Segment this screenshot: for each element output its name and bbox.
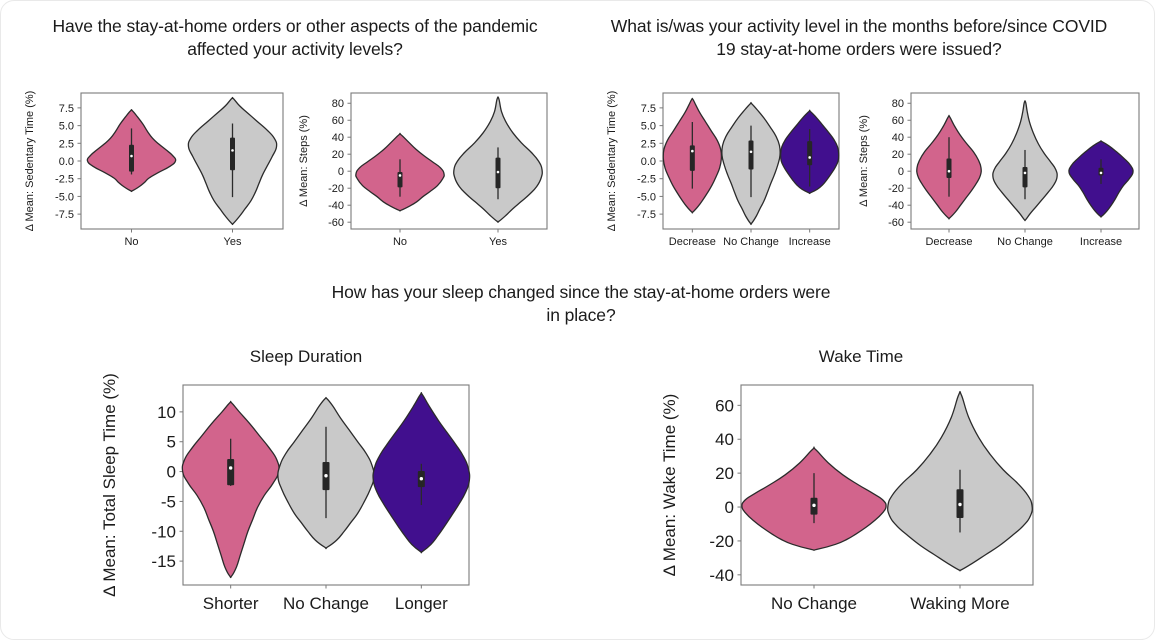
y-tick-label: 5 [167,433,176,452]
violin-plot-level-sedentary[interactable]: 7.55.02.50.0-2.5-5.0-7.5Δ Mean: Sedentar… [601,83,845,251]
violin-svg-level-steps: 806040200-20-40-60Δ Mean: Steps (%)Decre… [853,83,1145,251]
median-marker [229,466,232,469]
violin-shape-shorter [182,401,279,577]
iqr-box [230,138,235,171]
y-axis-title: Δ Mean: Sedentary Time (%) [606,91,618,232]
y-tick-label: 60 [892,115,904,127]
y-tick-label: 0 [167,463,176,482]
y-tick-label: 60 [715,396,734,415]
y-tick-label: -60 [328,217,344,229]
y-tick-label: -5.0 [637,191,656,203]
x-tick-label: Shorter [203,594,259,613]
x-tick-label: Waking More [910,594,1010,613]
y-axis-title: Δ Mean: Steps (%) [298,115,310,207]
y-tick-label: -40 [328,200,344,212]
y-tick-label: -10 [151,522,176,541]
median-marker [420,477,423,480]
y-tick-label: 0.0 [641,156,656,168]
y-tick-label: -2.5 [637,174,656,186]
y-tick-label: 0 [338,166,344,178]
y-tick-label: 80 [892,98,904,110]
violin-svg-wake-time: 6040200-20-40Δ Mean: Wake Time (%)No Cha… [651,373,1043,621]
violin-plot-wake-time[interactable]: 6040200-20-40Δ Mean: Wake Time (%)No Cha… [651,373,1043,621]
iqr-box [807,141,812,165]
y-tick-label: 2.5 [641,138,656,150]
x-tick-label: Increase [789,236,831,248]
x-tick-label: Decrease [925,236,972,248]
median-marker [324,474,327,477]
figure-canvas: Have the stay-at-home orders or other as… [0,0,1155,640]
x-tick-label: No Change [771,594,857,613]
violin-svg-level-sedentary: 7.55.02.50.0-2.5-5.0-7.5Δ Mean: Sedentar… [601,83,845,251]
y-axis-title: Δ Mean: Steps (%) [858,115,870,207]
y-tick-label: 0 [898,166,904,178]
x-tick-label: No [393,236,407,248]
panel-title-wake-time: Wake Time [716,347,1006,367]
y-tick-label: -20 [709,532,734,551]
y-tick-label: -40 [888,200,904,212]
y-tick-label: -7.5 [637,209,656,221]
violin-svg-sleep-duration: 1050-5-10-15Δ Mean: Total Sleep Time (%)… [91,373,477,621]
y-tick-label: -7.5 [55,209,74,221]
y-tick-label: 2.5 [59,138,74,150]
iqr-box [947,158,952,178]
y-tick-label: -2.5 [55,174,74,186]
median-marker [812,504,815,507]
y-tick-label: 0.0 [59,156,74,168]
y-tick-label: 80 [332,98,344,110]
panel-title-sleep-duration: Sleep Duration [161,347,451,367]
violin-plot-sleep-duration[interactable]: 1050-5-10-15Δ Mean: Total Sleep Time (%)… [91,373,477,621]
median-marker [497,171,500,174]
x-tick-label: Increase [1080,236,1122,248]
median-marker [958,503,961,506]
x-tick-label: No Change [997,236,1053,248]
y-tick-label: -20 [888,183,904,195]
y-tick-label: 20 [715,464,734,483]
violin-svg-affected-steps: 806040200-20-40-60Δ Mean: Steps (%)NoYes [293,83,555,251]
x-tick-label: Longer [395,594,448,613]
x-tick-label: No [124,236,138,248]
median-marker [1100,172,1103,175]
y-axis-title: Δ Mean: Wake Time (%) [660,394,679,577]
y-tick-label: 20 [892,149,904,161]
y-tick-label: 7.5 [59,103,74,115]
y-tick-label: 5.0 [59,121,74,133]
y-tick-label: 40 [892,132,904,144]
median-marker [399,174,402,177]
y-tick-label: -20 [328,183,344,195]
iqr-box [1023,167,1028,187]
y-tick-label: -60 [888,217,904,229]
violin-plot-affected-steps[interactable]: 806040200-20-40-60Δ Mean: Steps (%)NoYes [293,83,555,251]
median-marker [808,156,811,159]
iqr-box [129,145,134,172]
median-marker [750,150,753,153]
median-marker [948,170,951,173]
y-tick-label: -5.0 [55,191,74,203]
y-tick-label: 0 [725,498,734,517]
median-marker [1024,172,1027,175]
y-tick-label: -15 [151,552,176,571]
x-tick-label: No Change [723,236,779,248]
median-marker [231,149,234,152]
violin-plot-affected-sedentary[interactable]: 7.55.02.50.0-2.5-5.0-7.5Δ Mean: Sedentar… [19,83,291,251]
violin-plot-level-steps[interactable]: 806040200-20-40-60Δ Mean: Steps (%)Decre… [853,83,1145,251]
question-title-activity-affected: Have the stay-at-home orders or other as… [45,15,545,61]
iqr-box [749,140,754,169]
x-tick-label: Yes [224,236,242,248]
iqr-box [690,145,695,171]
question-title-sleep-changed: How has your sleep changed since the sta… [331,281,831,327]
y-tick-label: 60 [332,115,344,127]
y-tick-label: -5 [161,492,176,511]
y-tick-label: 20 [332,149,344,161]
y-tick-label: 40 [715,430,734,449]
x-tick-label: Yes [489,236,507,248]
question-title-activity-level: What is/was your activity level in the m… [599,15,1119,61]
x-tick-label: No Change [283,594,369,613]
x-tick-label: Decrease [669,236,716,248]
median-marker [691,150,694,153]
y-tick-label: 5.0 [641,121,656,133]
y-axis-title: Δ Mean: Total Sleep Time (%) [100,373,119,597]
y-axis-title: Δ Mean: Sedentary Time (%) [24,91,36,232]
iqr-box [227,459,234,485]
y-tick-label: 10 [157,403,176,422]
violin-svg-affected-sedentary: 7.55.02.50.0-2.5-5.0-7.5Δ Mean: Sedentar… [19,83,291,251]
median-marker [130,155,133,158]
y-tick-label: -40 [709,566,734,585]
y-tick-label: 40 [332,132,344,144]
y-tick-label: 7.5 [641,103,656,115]
